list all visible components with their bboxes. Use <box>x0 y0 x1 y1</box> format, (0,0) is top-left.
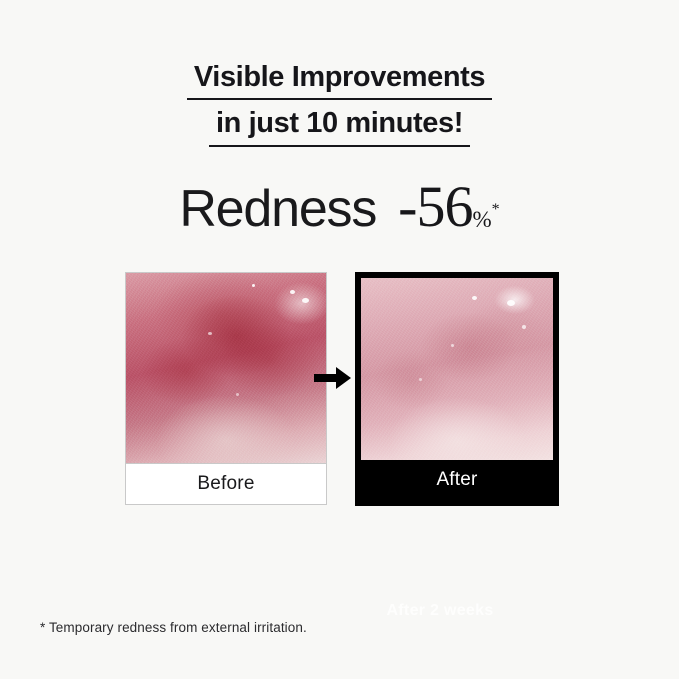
metric-row: Redness-56%* <box>0 173 679 240</box>
headline-line-1: Visible Improvements <box>187 58 492 100</box>
skin-speck <box>290 290 295 294</box>
after-card: After <box>355 272 559 506</box>
before-caption: Before <box>126 463 326 504</box>
promo-canvas: Visible Improvements in just 10 minutes!… <box>0 0 679 679</box>
skin-speck <box>419 378 422 381</box>
headline-line-2: in just 10 minutes! <box>209 104 470 146</box>
skin-speck <box>451 344 454 347</box>
watermark-text: After 2 weeks <box>370 602 510 620</box>
skin-speck <box>507 300 515 306</box>
after-caption: After <box>361 460 553 500</box>
skin-speck <box>252 284 255 287</box>
skin-speck <box>522 325 526 329</box>
before-after-comparison: Before After <box>0 272 679 504</box>
metric-label: Redness <box>179 180 376 238</box>
arrow-right-icon <box>314 366 352 390</box>
after-texture-grain <box>361 278 553 460</box>
metric-asterisk: * <box>492 201 500 218</box>
skin-speck <box>236 393 239 396</box>
footnote-text: * Temporary redness from external irrita… <box>40 620 307 635</box>
before-skin-image <box>126 273 326 463</box>
skin-speck <box>208 332 212 335</box>
after-skin-image <box>361 278 553 460</box>
before-card: Before <box>125 272 327 505</box>
skin-speck <box>302 298 309 303</box>
skin-speck <box>472 296 477 300</box>
headline-block: Visible Improvements in just 10 minutes! <box>0 58 679 151</box>
metric-value: -56 <box>398 174 472 239</box>
metric-unit: % <box>473 207 492 232</box>
before-texture-grain <box>126 273 326 463</box>
